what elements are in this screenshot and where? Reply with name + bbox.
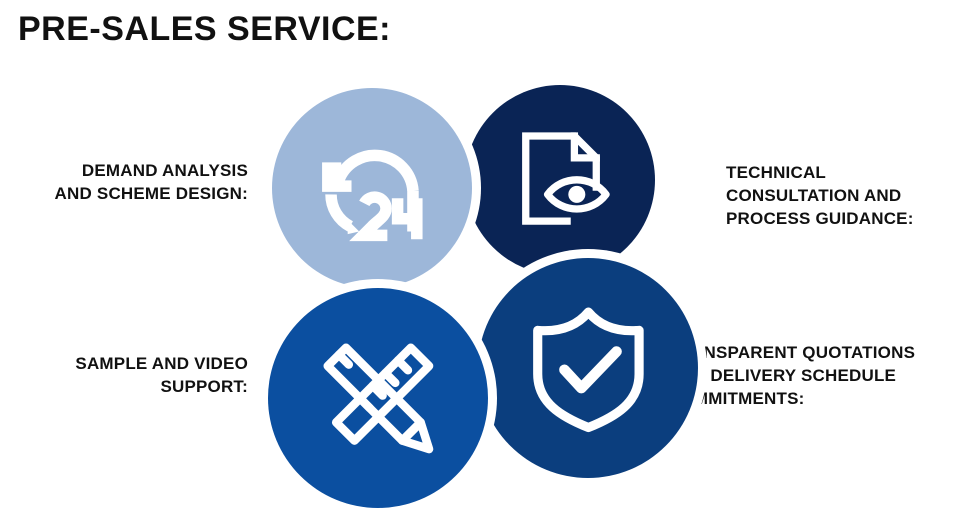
circle-demand-analysis[interactable] — [272, 88, 472, 288]
page-title: PRE-SALES SERVICE: — [18, 12, 391, 48]
label-line: SAMPLE AND VIDEO — [0, 353, 248, 376]
label-sample-video-support: SAMPLE AND VIDEO SUPPORT: — [0, 353, 248, 399]
label-line: TRANSPARENT QUOTATIONS — [668, 342, 960, 365]
label-line: PROCESS GUIDANCE: — [726, 208, 956, 231]
shield-check-icon — [518, 298, 659, 439]
label-line: SUPPORT: — [0, 376, 248, 399]
label-line: AND SCHEME DESIGN: — [0, 183, 248, 206]
label-line: TECHNICAL — [726, 162, 956, 185]
label-line: DEMAND ANALYSIS — [0, 160, 248, 183]
circle-sample-video-support[interactable] — [268, 288, 488, 508]
24-hour-rotate-arrow-icon — [308, 124, 436, 252]
label-demand-analysis: DEMAND ANALYSIS AND SCHEME DESIGN: — [0, 160, 248, 206]
document-eye-review-icon — [499, 119, 621, 241]
pencil-ruler-crossed-icon — [308, 328, 449, 469]
service-circle-cluster — [260, 78, 680, 490]
label-line: COMMITMENTS: — [668, 388, 960, 411]
circle-transparent-quotations[interactable] — [478, 258, 698, 478]
label-transparent-quotations: TRANSPARENT QUOTATIONS AND DELIVERY SCHE… — [668, 342, 960, 411]
label-technical-consultation: TECHNICAL CONSULTATION AND PROCESS GUIDA… — [726, 162, 956, 231]
label-line: CONSULTATION AND — [726, 185, 956, 208]
label-line: AND DELIVERY SCHEDULE — [668, 365, 960, 388]
circle-technical-consultation[interactable] — [465, 85, 655, 275]
